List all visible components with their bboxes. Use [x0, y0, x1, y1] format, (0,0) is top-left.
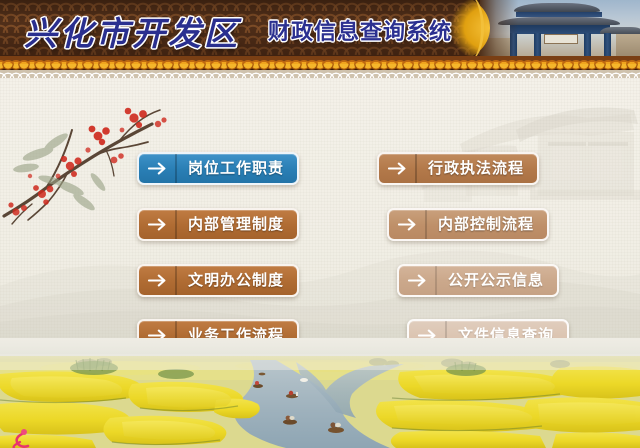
header-gold-curve-line: [464, 0, 484, 56]
menu-button-office-conduct[interactable]: 文明办公制度: [137, 264, 299, 297]
menu-button-internal-control[interactable]: 内部控制流程: [387, 208, 549, 241]
menu-button-administrative-enforcement[interactable]: 行政执法流程: [377, 152, 539, 185]
menu-button-label: 内部管理制度: [177, 217, 297, 232]
decorative-tile-border: [0, 56, 640, 78]
site-title: 兴化市开发区: [24, 7, 240, 55]
arrow-right-icon: [399, 266, 437, 295]
main-stage: 岗位工作职责 内部管理制度 文明办公制度: [0, 78, 640, 448]
arrow-right-icon: [139, 210, 177, 239]
rapeseed-fields-photo: [0, 338, 640, 448]
menu-button-job-duties[interactable]: 岗位工作职责: [137, 152, 299, 185]
rapeseed-fields-illustration: [0, 338, 640, 448]
menu-button-label: 文明办公制度: [177, 273, 297, 288]
menu-button-label: 内部控制流程: [427, 217, 547, 232]
arrow-right-icon: [389, 210, 427, 239]
page-root: 兴化市开发区 财政信息查询系统: [0, 0, 640, 448]
gate-photo-fade: [480, 0, 640, 56]
arrow-right-icon: [139, 266, 177, 295]
ornament-light-row: [0, 70, 640, 78]
menu-button-label: 公开公示信息: [437, 273, 557, 288]
site-subtitle: 财政信息查询系统: [268, 14, 452, 46]
gate-archway-photo: [480, 0, 640, 56]
arrow-right-icon: [139, 154, 177, 183]
arrow-right-icon: [379, 154, 417, 183]
menu-button-public-disclosure[interactable]: 公开公示信息: [397, 264, 559, 297]
menu-button-label: 行政执法流程: [417, 161, 537, 176]
menu-button-label: 岗位工作职责: [177, 161, 297, 176]
menu-button-internal-management[interactable]: 内部管理制度: [137, 208, 299, 241]
site-header: 兴化市开发区 财政信息查询系统: [0, 0, 640, 56]
